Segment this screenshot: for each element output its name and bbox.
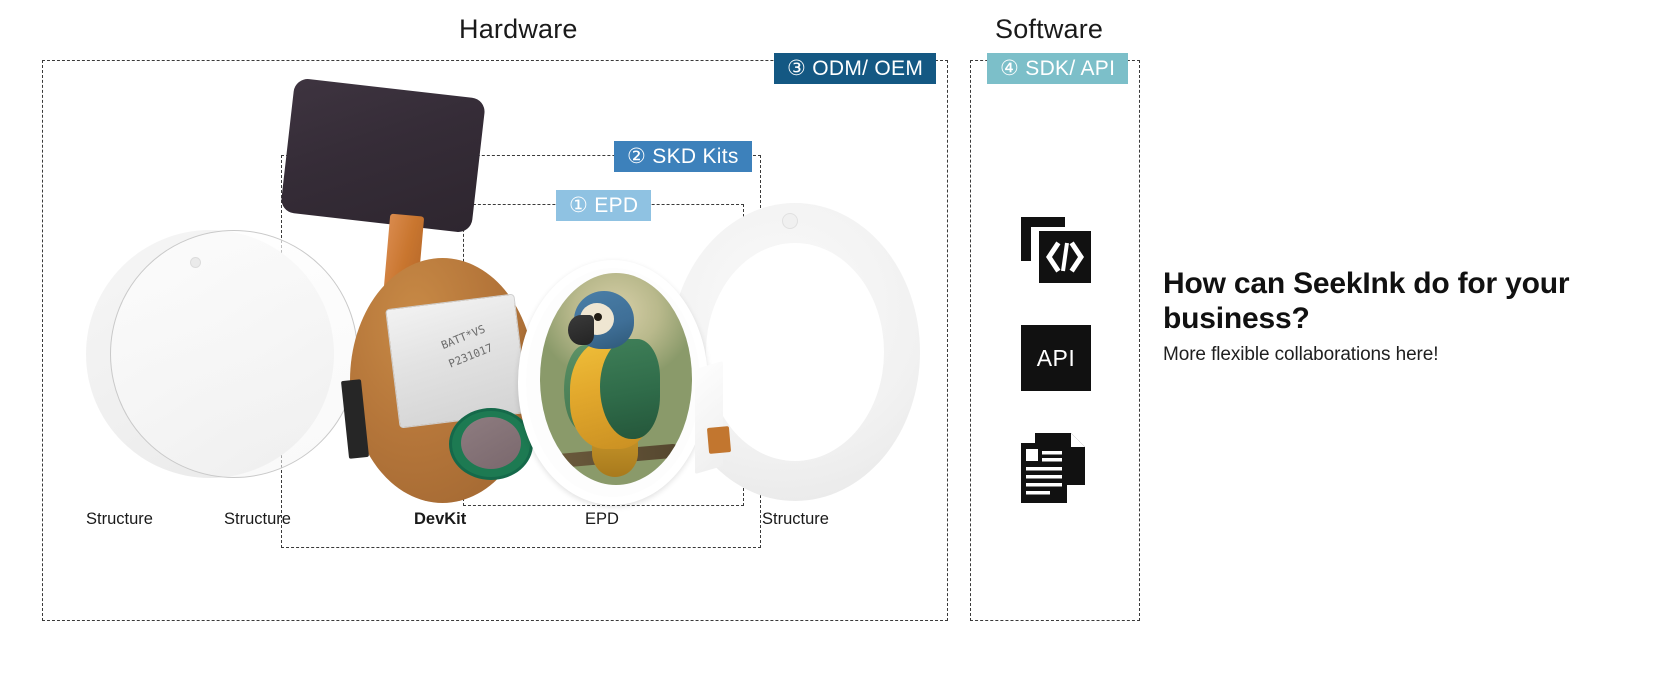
badge-epd[interactable]: ① EPD: [556, 190, 651, 221]
structure-housing-hole: [782, 213, 798, 229]
structure-lens-hole: [190, 257, 201, 268]
parrot-eye: [594, 313, 602, 321]
structure-lens-ring: [110, 230, 358, 478]
part-label-devkit: DevKit: [414, 510, 466, 529]
part-label-structure-2: Structure: [224, 510, 291, 529]
api-icon-label: API: [1021, 325, 1091, 391]
diagram-canvas: Hardware Software BATT*VS P231017: [0, 0, 1680, 700]
badge-skd-kits[interactable]: ② SKD Kits: [614, 141, 752, 172]
promo-subheadline: More flexible collaborations here!: [1163, 344, 1613, 366]
part-label-structure-3: Structure: [762, 510, 829, 529]
hardware-section-title: Hardware: [459, 14, 578, 45]
code-brackets-icon: [1021, 217, 1091, 283]
part-label-epd: EPD: [585, 510, 619, 529]
documents-icon: [1021, 433, 1091, 503]
badge-sdk-api[interactable]: ④ SDK/ API: [987, 53, 1128, 84]
coin-cell: [461, 417, 521, 469]
flexible-display-panel: [280, 78, 486, 234]
promo-headline: How can SeekInk do for your business?: [1163, 266, 1593, 337]
parrot-beak: [568, 315, 594, 345]
badge-odm-oem[interactable]: ③ ODM/ OEM: [774, 53, 936, 84]
software-section-title: Software: [995, 14, 1103, 45]
epd-flex-cable: [707, 426, 731, 454]
api-icon: API: [1021, 325, 1091, 391]
structure-housing-aperture: [706, 243, 884, 461]
epd-parrot-image: [540, 273, 692, 485]
parrot-wing: [600, 339, 660, 439]
product-exploded-view: BATT*VS P231017: [40, 75, 950, 520]
part-label-structure-1: Structure: [86, 510, 153, 529]
epd-side-tab: [695, 361, 723, 474]
